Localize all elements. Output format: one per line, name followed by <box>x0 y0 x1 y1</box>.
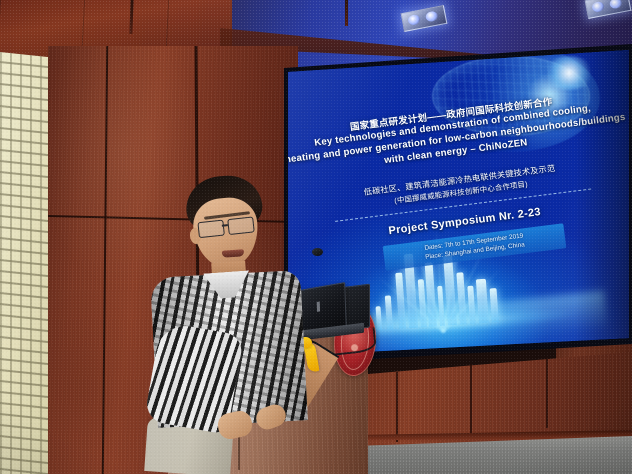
presenter <box>152 176 332 474</box>
panel-seam <box>546 358 548 428</box>
panel-seam <box>396 372 398 442</box>
place-label: Place: <box>425 252 444 261</box>
panel-seam <box>470 364 472 434</box>
conference-presentation-photo: 国家重点研发计划——政府间国际科技创新合作 Key technologies a… <box>0 0 632 474</box>
